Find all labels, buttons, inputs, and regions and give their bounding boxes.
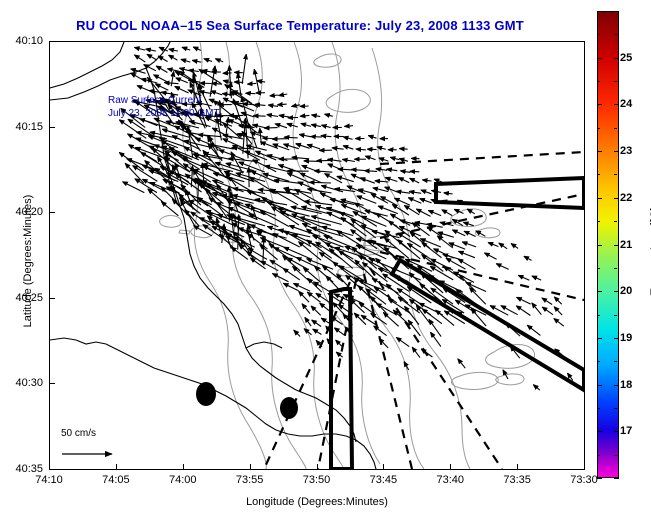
y-tick-label: 40:35: [5, 463, 43, 475]
y-tick-label: 40:10: [5, 35, 43, 47]
map-svg: [50, 42, 584, 469]
colorbar-tick-label: 19: [620, 332, 632, 344]
x-tick-label: 74:05: [102, 474, 130, 486]
right-arrow-icon: [56, 442, 176, 478]
colorbar-minor-tick: [614, 81, 617, 82]
x-tick-label: 74:00: [169, 474, 197, 486]
x-tick-label: 73:35: [503, 474, 531, 486]
scale-legend-label: 50 cm/s: [61, 428, 96, 439]
colorbar-tick-mark: [614, 431, 619, 432]
x-tick-mark: [116, 464, 117, 469]
colorbar-tick-mark: [614, 385, 619, 386]
colorbar-tick-label: 23: [620, 145, 632, 157]
x-tick-mark: [517, 464, 518, 469]
colorbar-tick-label: 20: [620, 285, 632, 297]
colorbar-minor-tick: [597, 408, 600, 409]
colorbar-minor-tick: [597, 128, 600, 129]
colorbar-minor-tick: [614, 408, 617, 409]
y-tick-mark: [50, 127, 55, 128]
colorbar-tick-mark: [614, 291, 619, 292]
colorbar-tick-label: 25: [620, 52, 632, 64]
colorbar-minor-tick: [597, 174, 600, 175]
colorbar-tick-mark: [597, 478, 602, 479]
colorbar-minor-tick: [614, 361, 617, 362]
y-tick-mark: [50, 212, 55, 213]
y-tick-mark: [50, 469, 55, 470]
x-tick-mark: [183, 464, 184, 469]
x-tick-mark: [383, 464, 384, 469]
y-tick-label: 40:30: [5, 377, 43, 389]
colorbar-tick-label: 17: [620, 425, 632, 437]
y-tick-mark: [50, 41, 55, 42]
map-plot-area[interactable]: Raw Surface Current July 23, 2008 11:00 …: [49, 41, 585, 470]
colorbar-tick-mark: [597, 431, 602, 432]
x-tick-mark: [317, 464, 318, 469]
colorbar-minor-tick: [597, 221, 600, 222]
colorbar-tick-label: 21: [620, 239, 632, 251]
y-tick-mark: [50, 383, 55, 384]
colorbar-tick-mark: [597, 291, 602, 292]
colorbar-minor-tick: [614, 34, 617, 35]
colorbar-minor-tick: [597, 315, 600, 316]
x-tick-label: 73:55: [236, 474, 264, 486]
colorbar-tick-label: 18: [620, 379, 632, 391]
colorbar-tick-mark: [597, 245, 602, 246]
colorbar-minor-tick: [614, 315, 617, 316]
colorbar-minor-tick: [597, 34, 600, 35]
colorbar-minor-tick: [614, 174, 617, 175]
x-tick-mark: [250, 464, 251, 469]
colorbar-tick-mark: [614, 151, 619, 152]
colorbar-minor-tick: [614, 268, 617, 269]
colorbar-tick-mark: [597, 151, 602, 152]
colorbar-tick-mark: [614, 104, 619, 105]
colorbar-tick-mark: [614, 245, 619, 246]
x-tick-label: 73:50: [303, 474, 331, 486]
colorbar-minor-tick: [597, 268, 600, 269]
scale-legend: 50 cm/s: [56, 428, 176, 464]
x-axis-label: Longitude (Degrees:Minutes): [49, 496, 585, 508]
colorbar-minor-tick: [614, 455, 617, 456]
colorbar-tick-label: 24: [620, 98, 632, 110]
radar-site-markers: [196, 382, 298, 419]
colorbar-minor-tick: [614, 128, 617, 129]
sst-current-map-figure: RU COOL NOAA–15 Sea Surface Temperature:…: [0, 0, 651, 518]
colorbar-tick-mark: [597, 11, 602, 12]
y-axis-label: Latitude (Degrees:Minutes): [22, 171, 34, 351]
colorbar-minor-tick: [597, 81, 600, 82]
x-tick-label: 73:40: [436, 474, 464, 486]
colorbar-tick-label: 22: [620, 192, 632, 204]
colorbar-minor-tick: [597, 455, 600, 456]
radar-site-marker: [196, 382, 216, 406]
colorbar-tick-mark: [597, 385, 602, 386]
colorbar-tick-mark: [597, 338, 602, 339]
x-tick-label: 73:30: [570, 474, 598, 486]
x-tick-mark: [584, 464, 585, 469]
x-tick-label: 73:45: [370, 474, 398, 486]
colorbar-tick-mark: [614, 11, 619, 12]
colorbar-tick-mark: [614, 198, 619, 199]
colorbar-tick-mark: [597, 58, 602, 59]
colorbar-minor-tick: [614, 221, 617, 222]
colorbar-tick-mark: [614, 338, 619, 339]
x-tick-label: 74:10: [35, 474, 63, 486]
colorbar-tick-mark: [614, 478, 619, 479]
colorbar-minor-tick: [597, 361, 600, 362]
x-tick-mark: [450, 464, 451, 469]
figure-title: RU COOL NOAA–15 Sea Surface Temperature:…: [0, 18, 600, 33]
colorbar-tick-mark: [597, 198, 602, 199]
colorbar-tick-mark: [614, 58, 619, 59]
colorbar-tick-mark: [597, 104, 602, 105]
y-tick-mark: [50, 298, 55, 299]
surface-current-vectors: [119, 47, 572, 390]
y-tick-label: 40:15: [5, 121, 43, 133]
